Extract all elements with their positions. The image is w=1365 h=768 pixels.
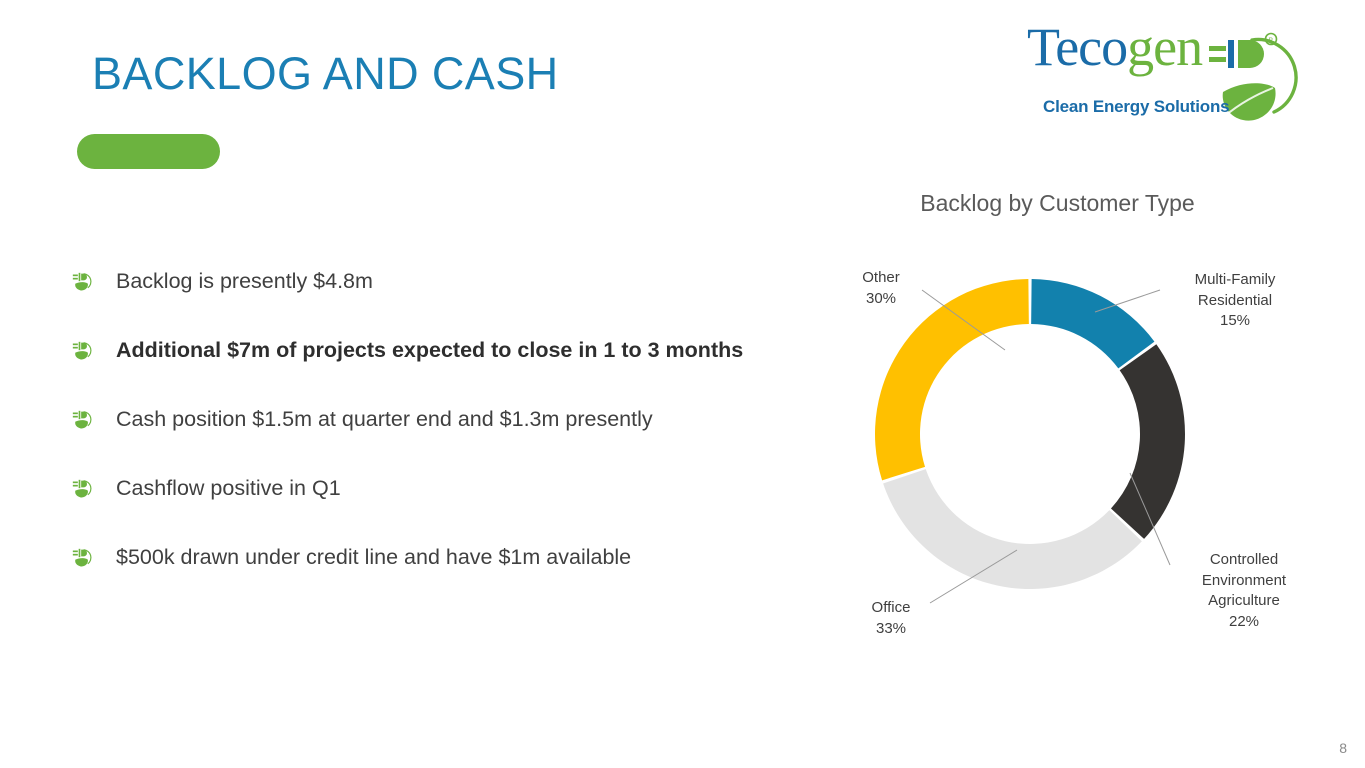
chart-label-office: Office 33% — [852, 598, 930, 639]
chart-label-other-name: Other — [842, 268, 920, 289]
list-item: Cashflow positive in Q1 — [72, 475, 812, 544]
chart-label-cea-line3: Agriculture — [1185, 591, 1303, 612]
list-item: Backlog is presently $4.8m — [72, 268, 812, 337]
list-item-label: Additional $7m of projects expected to c… — [116, 337, 743, 364]
plug-leaf-bullet-icon — [72, 410, 92, 430]
list-item-label: Cashflow positive in Q1 — [116, 475, 341, 502]
chart-label-multi-family-residential: Multi-Family Residential 15% — [1170, 270, 1300, 332]
list-item-label: $500k drawn under credit line and have $… — [116, 544, 631, 571]
list-item: Additional $7m of projects expected to c… — [72, 337, 812, 406]
chart-label-office-name: Office — [852, 598, 930, 619]
donut-slice — [1031, 279, 1154, 368]
plug-leaf-bullet-icon — [72, 479, 92, 499]
logo-wordmark-gen: gen — [1127, 17, 1202, 77]
page-title: BACKLOG AND CASH — [92, 49, 559, 99]
list-item: Cash position $1.5m at quarter end and $… — [72, 406, 812, 475]
bullet-list: Backlog is presently $4.8m Additional $7… — [72, 268, 812, 613]
list-item: $500k drawn under credit line and have $… — [72, 544, 812, 613]
plug-leaf-bullet-icon — [72, 272, 92, 292]
plug-leaf-bullet-icon — [72, 548, 92, 568]
page-number: 8 — [1339, 740, 1347, 756]
chart-label-cea-value: 22% — [1185, 612, 1303, 633]
chart-label-controlled-environment-agriculture: Controlled Environment Agriculture 22% — [1185, 550, 1303, 633]
chart-label-multi-family-line2: Residential — [1170, 291, 1300, 312]
logo-tagline: Clean Energy Solutions — [1043, 97, 1229, 117]
donut-slices — [875, 279, 1185, 589]
donut-slice — [883, 469, 1142, 589]
list-item-label: Backlog is presently $4.8m — [116, 268, 373, 295]
chart-label-other: Other 30% — [842, 268, 920, 309]
logo-wordmark-teco: Teco — [1027, 17, 1127, 77]
chart-label-multi-family-line1: Multi-Family — [1170, 270, 1300, 291]
chart-label-cea-line2: Environment — [1185, 571, 1303, 592]
chart-label-office-value: 33% — [852, 619, 930, 640]
list-item-label: Cash position $1.5m at quarter end and $… — [116, 406, 653, 433]
chart-label-cea-line1: Controlled — [1185, 550, 1303, 571]
tecogen-logo: Tecogen R Clean Energy Solutions — [1027, 20, 1299, 130]
plug-leaf-bullet-icon — [72, 341, 92, 361]
title-accent-bar — [77, 134, 220, 169]
logo-wordmark: Tecogen — [1027, 20, 1202, 74]
backlog-by-customer-type-chart: Backlog by Customer Type Other 30% Multi… — [830, 190, 1330, 650]
slide-canvas: BACKLOG AND CASH Tecogen R Clean Energy … — [0, 0, 1365, 768]
chart-label-multi-family-value: 15% — [1170, 311, 1300, 332]
chart-label-other-value: 30% — [842, 289, 920, 310]
donut-slice — [1111, 344, 1185, 539]
